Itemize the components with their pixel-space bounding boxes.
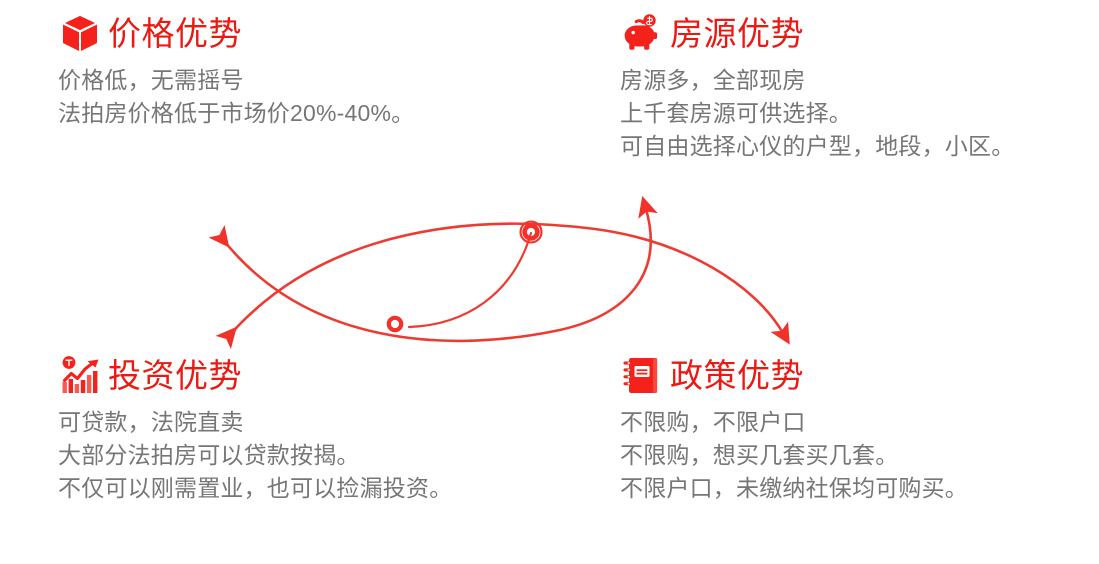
- feature-text-list: 不限购，不限户口 不限购，想买几套买几套。 不限户口，未缴纳社保均可购买。: [620, 406, 1090, 505]
- feature-line: 可贷款，法院直卖: [58, 406, 598, 439]
- feature-text-list: 可贷款，法院直卖 大部分法拍房可以贷款按揭。 不仅可以刚需置业，也可以捡漏投资。: [58, 406, 598, 505]
- feature-title: 房源优势: [670, 17, 804, 50]
- node-lower-single-ring: [389, 318, 401, 330]
- arc-lower: [221, 209, 651, 341]
- feature-title: 投资优势: [108, 359, 242, 392]
- feature-line: 法拍房价格低于市场价20%-40%。: [58, 97, 598, 130]
- feature-line: 上千套房源可供选择。: [620, 97, 1090, 130]
- infographic-canvas: 价格优势 价格低，无需摇号 法拍房价格低于市场价20%-40%。 房源优势 房源…: [0, 0, 1099, 564]
- feature-block-price-advantage: 价格优势 价格低，无需摇号 法拍房价格低于市场价20%-40%。: [58, 8, 598, 130]
- arc-upper: [228, 224, 783, 337]
- feature-line: 可自由选择心仪的户型，地段，小区。: [620, 130, 1090, 163]
- feature-line: 价格低，无需摇号: [58, 64, 598, 97]
- feature-block-investment-advantage: 投资优势 可贷款，法院直卖 大部分法拍房可以贷款按揭。 不仅可以刚需置业，也可以…: [58, 350, 598, 505]
- feature-line: 不仅可以刚需置业，也可以捡漏投资。: [58, 472, 598, 505]
- bar-chart-growth-icon: [58, 353, 102, 397]
- notebook-icon: [620, 353, 664, 397]
- feature-text-list: 价格低，无需摇号 法拍房价格低于市场价20%-40%。: [58, 64, 598, 130]
- center-arrow-graphic: [195, 185, 815, 360]
- feature-line: 不限户口，未缴纳社保均可购买。: [620, 472, 1090, 505]
- feature-heading-policy-advantage: 政策优势: [620, 350, 1090, 400]
- connector-stem: [409, 233, 531, 327]
- feature-title: 政策优势: [670, 359, 804, 392]
- feature-heading-price-advantage: 价格优势: [58, 8, 598, 58]
- feature-line: 大部分法拍房可以贷款按揭。: [58, 439, 598, 472]
- cube-icon: [58, 11, 102, 55]
- feature-heading-listing-advantage: 房源优势: [620, 8, 1090, 58]
- feature-heading-investment-advantage: 投资优势: [58, 350, 598, 400]
- feature-text-list: 房源多，全部现房 上千套房源可供选择。 可自由选择心仪的户型，地段，小区。: [620, 64, 1090, 163]
- feature-title: 价格优势: [108, 17, 242, 50]
- feature-line: 不限购，想买几套买几套。: [620, 439, 1090, 472]
- feature-block-listing-advantage: 房源优势 房源多，全部现房 上千套房源可供选择。 可自由选择心仪的户型，地段，小…: [620, 8, 1090, 163]
- feature-line: 房源多，全部现房: [620, 64, 1090, 97]
- piggy-bank-icon: [620, 11, 664, 55]
- feature-block-policy-advantage: 政策优势 不限购，不限户口 不限购，想买几套买几套。 不限户口，未缴纳社保均可购…: [620, 350, 1090, 505]
- node-upper-double-ring: [521, 222, 542, 243]
- feature-line: 不限购，不限户口: [620, 406, 1090, 439]
